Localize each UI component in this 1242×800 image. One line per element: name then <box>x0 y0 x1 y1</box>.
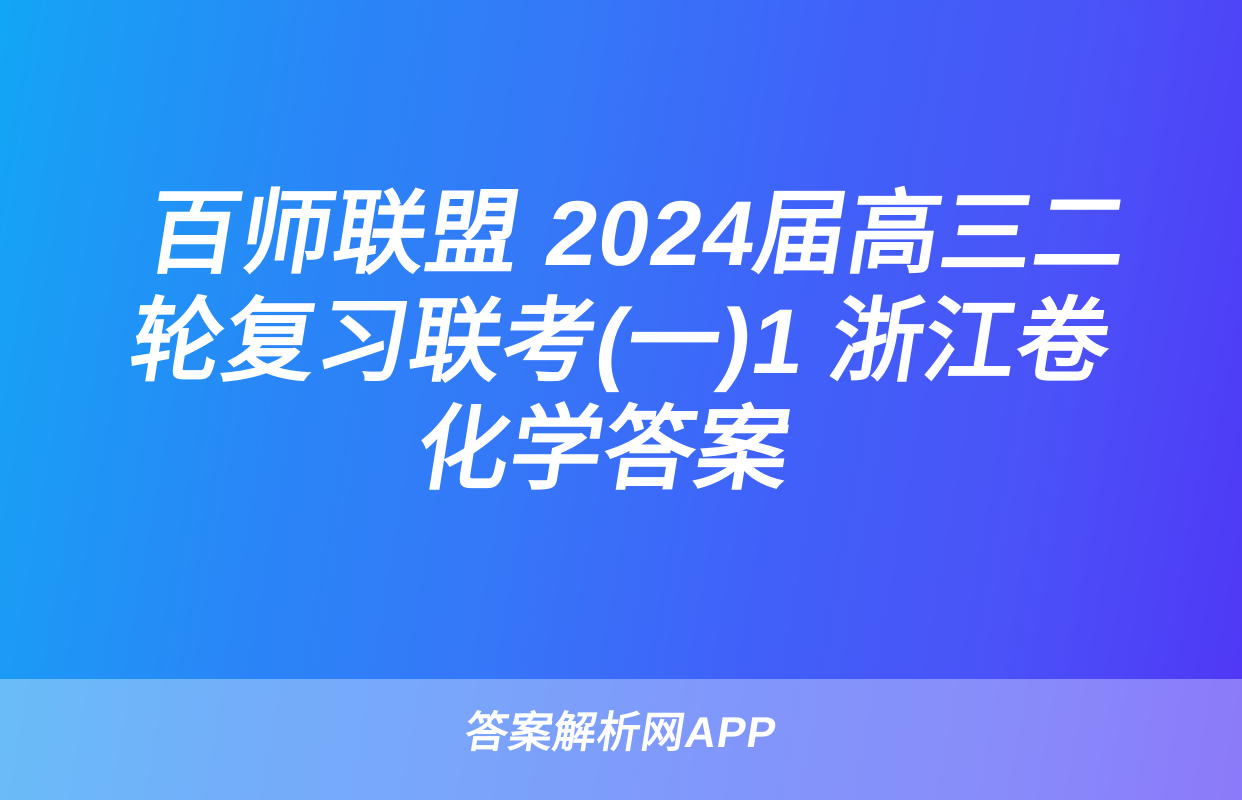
banner-title-line-1: 百师联盟 2024届高三二 <box>9 180 1242 288</box>
exam-answer-banner: 百师联盟 2024届高三二 轮复习联考(一)1 浙江卷 化学答案 答案解析网AP… <box>0 0 1242 800</box>
banner-title-line-3: 化学答案 <box>0 396 1233 504</box>
banner-title-line-2: 轮复习联考(一)1 浙江卷 <box>0 288 1242 396</box>
app-watermark: 答案解析网APP <box>0 708 1242 758</box>
banner-title: 百师联盟 2024届高三二 轮复习联考(一)1 浙江卷 化学答案 <box>0 180 1242 504</box>
